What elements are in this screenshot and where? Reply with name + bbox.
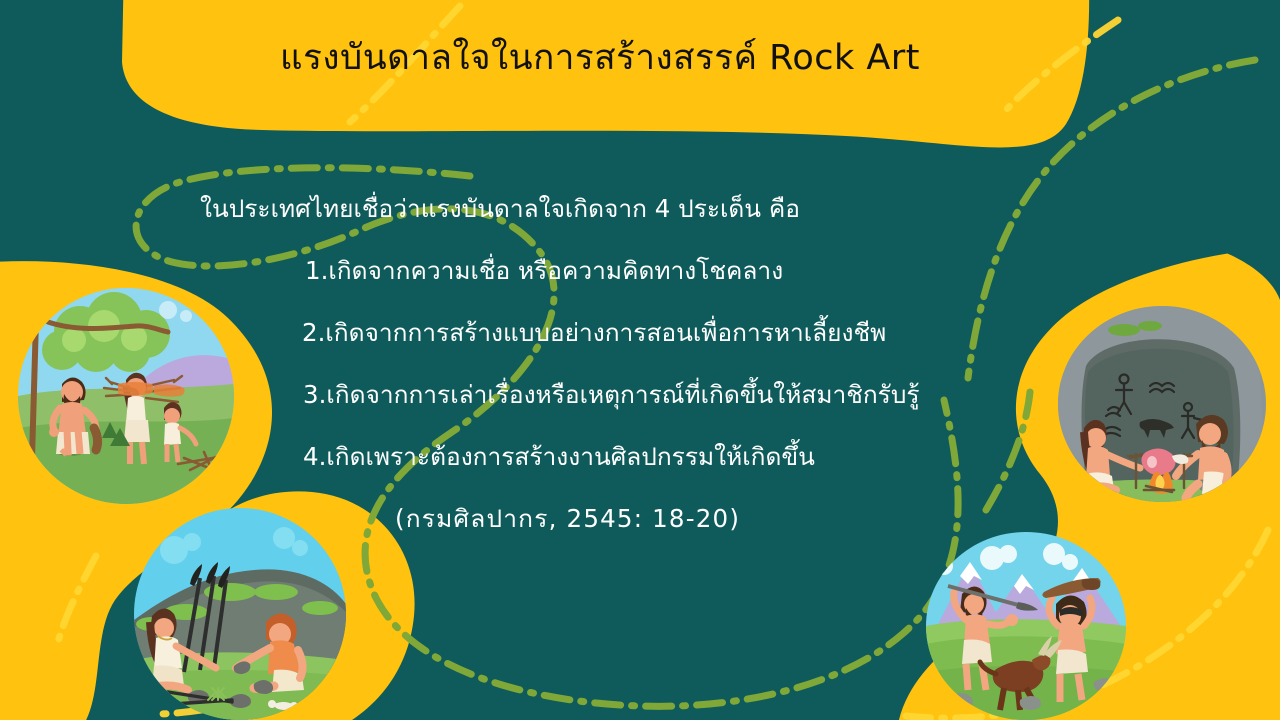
body-line-intro: ในประเทศไทยเชื่อว่าแรงบันดาลใจเกิดจาก 4 … [0, 178, 1280, 240]
slide-canvas: แรงบันดาลใจในการสร้างสรรค์ Rock Art ในปร… [0, 0, 1280, 720]
slide-body: ในประเทศไทยเชื่อว่าแรงบันดาลใจเกิดจาก 4 … [0, 178, 1280, 550]
body-line-item-3: 3.เกิดจากการเล่าเรื่องหรือเหตุการณ์ที่เก… [0, 364, 1280, 426]
page-title: แรงบันดาลใจในการสร้างสรรค์ Rock Art [120, 30, 1080, 85]
hunting-scene-illustration [926, 532, 1126, 720]
body-line-citation: (กรมศิลปากร, 2545: 18-20) [0, 488, 1280, 550]
body-line-item-1: 1.เกิดจากความเชื่อ หรือความคิดทางโชคลาง [0, 240, 1280, 302]
dash-curve-yellow-left-small [58, 556, 96, 642]
body-line-item-2: 2.เกิดจากการสร้างแบบอย่างการสอนเพื่อการห… [0, 302, 1280, 364]
body-line-item-4: 4.เกิดเพราะต้องการสร้างงานศิลปกรรมให้เกิ… [0, 426, 1280, 488]
